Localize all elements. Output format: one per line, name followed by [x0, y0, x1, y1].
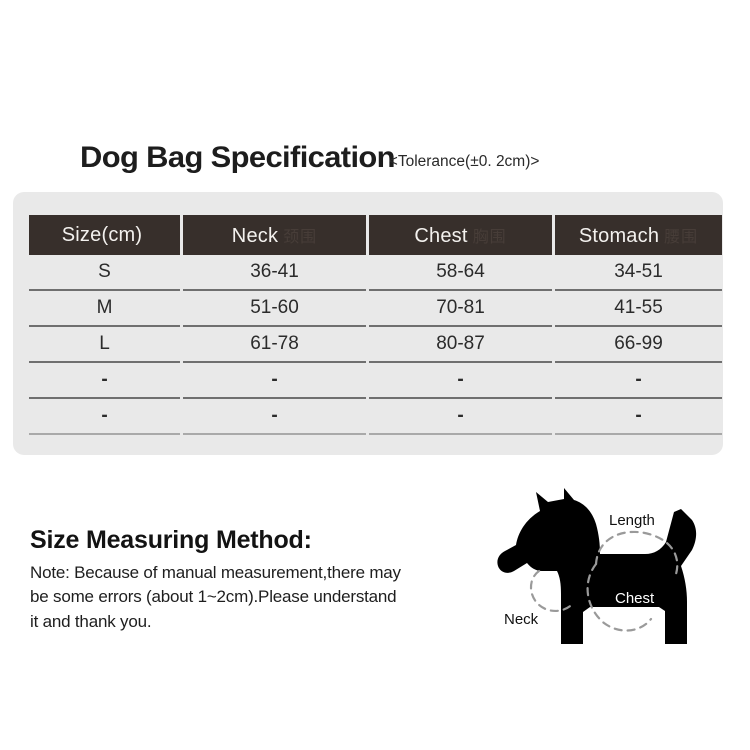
cell-size: -	[29, 399, 180, 435]
measuring-method-note-line-2: be some errors (about 1~2cm).Please unde…	[30, 587, 396, 606]
diagram-label-chest: Chest	[615, 590, 655, 607]
cell-stomach: 34-51	[555, 255, 722, 291]
table-row: M 51-60 70-81 41-55	[29, 291, 722, 327]
table-row: S 36-41 58-64 34-51	[29, 255, 722, 291]
cell-size: L	[29, 327, 180, 363]
cell-neck: 51-60	[183, 291, 366, 327]
cell-neck: 36-41	[183, 255, 366, 291]
cell-size: M	[29, 291, 180, 327]
column-header-stomach: Stomach 腰围	[555, 215, 722, 255]
page-title-main: Dog Bag Specification	[80, 141, 395, 175]
column-header-chest: Chest 胸围	[369, 215, 552, 255]
cell-neck: 61-78	[183, 327, 366, 363]
column-header-neck-cn: 颈围	[283, 223, 317, 247]
measuring-method-note-line-1: Note: Because of manual measurement,ther…	[30, 563, 401, 582]
measuring-method-block: Size Measuring Method: Note: Because of …	[30, 527, 480, 634]
table-row: L 61-78 80-87 66-99	[29, 327, 722, 363]
page-title-tolerance: <Tolerance(±0. 2cm)>	[389, 153, 540, 171]
column-header-neck-label: Neck	[232, 225, 278, 248]
table-header-row: Size(cm) Neck 颈围 Chest 胸围	[29, 215, 722, 255]
cell-chest: 70-81	[369, 291, 552, 327]
cell-chest: 58-64	[369, 255, 552, 291]
column-header-chest-cn: 胸围	[473, 223, 507, 247]
table-row: - - - -	[29, 363, 722, 399]
column-header-stomach-label: Stomach	[579, 225, 659, 248]
cell-stomach: -	[555, 363, 722, 399]
cell-chest: 80-87	[369, 327, 552, 363]
cell-stomach: 66-99	[555, 327, 722, 363]
measuring-method-note: Note: Because of manual measurement,ther…	[30, 561, 480, 635]
cell-neck: -	[183, 399, 366, 435]
measuring-method-heading: Size Measuring Method:	[30, 527, 480, 555]
dog-measurement-diagram: Length Chest Neck	[478, 478, 740, 700]
spec-table: Size(cm) Neck 颈围 Chest 胸围	[26, 215, 725, 435]
cell-size: S	[29, 255, 180, 291]
diagram-label-neck: Neck	[504, 611, 539, 628]
cell-chest: -	[369, 399, 552, 435]
page-title: Dog Bag Specification <Tolerance(±0. 2cm…	[80, 141, 539, 175]
cell-size: -	[29, 363, 180, 399]
column-header-chest-label: Chest	[414, 225, 467, 248]
cell-chest: -	[369, 363, 552, 399]
measuring-method-note-line-3: it and thank you.	[30, 612, 151, 631]
column-header-size-label: Size(cm)	[62, 224, 143, 247]
cell-neck: -	[183, 363, 366, 399]
cell-stomach: 41-55	[555, 291, 722, 327]
cell-stomach: -	[555, 399, 722, 435]
column-header-stomach-cn: 腰围	[664, 223, 698, 247]
column-header-neck: Neck 颈围	[183, 215, 366, 255]
column-header-size: Size(cm)	[29, 215, 180, 255]
table-row: - - - -	[29, 399, 722, 435]
spec-table-panel: Size(cm) Neck 颈围 Chest 胸围	[13, 192, 723, 455]
diagram-label-length: Length	[609, 512, 655, 529]
